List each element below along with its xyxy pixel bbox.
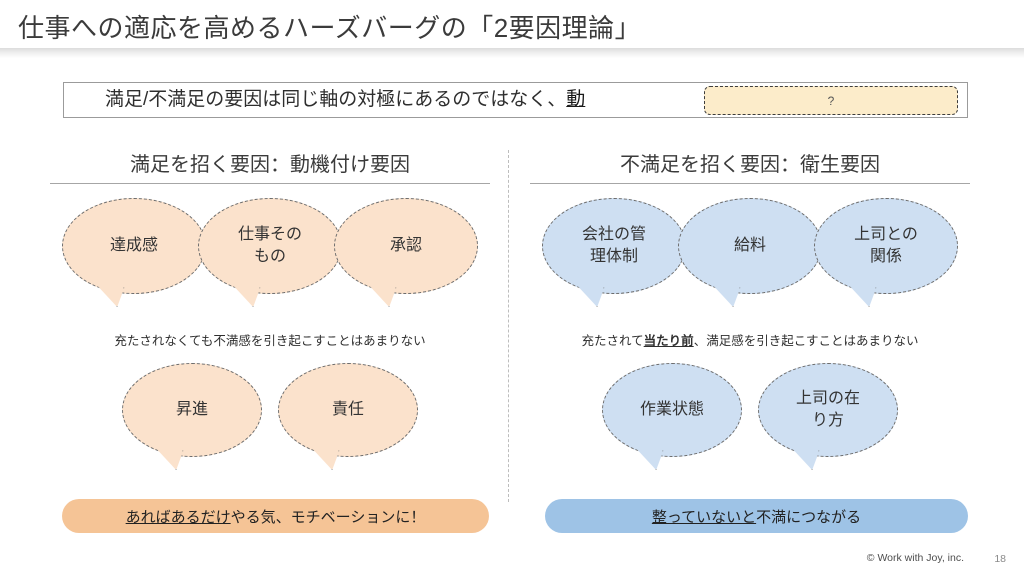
caption-suffix: 、満足感を引き起こすことはあまりない [694,334,919,348]
bubble-motivator-4: 昇進 [122,363,262,457]
banner-motivators: あればあるだけやる気、モチベーションに！ [62,499,489,533]
bubble-row-top-motivators: 達成感 仕事そのもの 承認 [40,198,500,304]
bubble-hygiene-5: 上司の在り方 [758,363,898,457]
bubble-row-bottom-motivators: 昇進 責任 [40,363,500,467]
title-separator [0,48,1024,58]
bubble-label: 上司との関係 [846,224,926,268]
caption-motivators: 充たされなくても不満感を引き起こすことはあまりない [40,330,500,349]
footer-copyright: © Work with Joy, inc. [867,552,964,564]
lead-masked-word: 動 [566,86,585,114]
lead-statement-text: 満足/不満足の要因は同じ軸の対極にあるのではなく、動 [105,86,585,114]
bubble-label: 達成感 [102,235,166,257]
bubble-label: 昇進 [168,399,216,421]
bubble-row-top-hygiene: 会社の管理体制 給料 上司との関係 [520,198,980,304]
answer-placeholder-mark: ? [828,94,835,108]
column-heading-motivators: 満足を招く要因：動機付け要因 [50,148,490,184]
bubble-motivator-5: 責任 [278,363,418,457]
bubble-row-bottom-hygiene: 作業状態 上司の在り方 [520,363,980,467]
banner-hygiene: 整っていないと不満につながる [545,499,968,533]
bubble-motivator-2: 仕事そのもの [198,198,342,294]
bubble-label: 会社の管理体制 [574,224,654,268]
bubble-label: 仕事そのもの [230,224,310,268]
bubble-hygiene-3: 上司との関係 [814,198,958,294]
bubble-hygiene-4: 作業状態 [602,363,742,457]
lead-statement-prefix: 満足/不満足の要因は同じ軸の対極にあるのではなく、 [105,89,566,110]
column-divider [508,150,509,502]
bubble-label: 作業状態 [632,399,712,421]
caption-prefix: 充たされなくても不満感を引き起こすことはあまりない [114,334,425,348]
bubble-motivator-1: 達成感 [62,198,206,294]
bubble-hygiene-1: 会社の管理体制 [542,198,686,294]
footer-page-number: 18 [994,553,1006,565]
column-motivators: 満足を招く要因：動機付け要因 達成感 仕事そのもの 承認 充たされなくても不満感… [40,148,500,538]
column-hygiene: 不満足を招く要因：衛生要因 会社の管理体制 給料 上司との関係 充たされて当たり… [520,148,980,538]
bubble-label: 承認 [382,235,430,257]
bubble-label: 責任 [324,399,372,421]
bubble-hygiene-2: 給料 [678,198,822,294]
banner-underlined-text: あればあるだけ [126,506,231,527]
banner-underlined-text: 整っていないと [652,506,756,527]
bubble-label: 給料 [726,235,774,257]
caption-prefix: 充たされて [582,334,644,348]
caption-hygiene: 充たされて当たり前、満足感を引き起こすことはあまりない [520,330,980,349]
caption-emphasis: 当たり前 [644,334,694,348]
bubble-motivator-3: 承認 [334,198,478,294]
answer-blank-field[interactable]: ? [704,86,958,115]
bubble-label: 上司の在り方 [788,388,868,432]
column-heading-hygiene: 不満足を招く要因：衛生要因 [530,148,970,184]
banner-rest-text: やる気、モチベーションに！ [231,506,426,527]
banner-rest-text: 不満につながる [756,506,861,527]
page-title: 仕事への適応を高めるハーズバーグの「2要因理論」 [18,8,641,45]
